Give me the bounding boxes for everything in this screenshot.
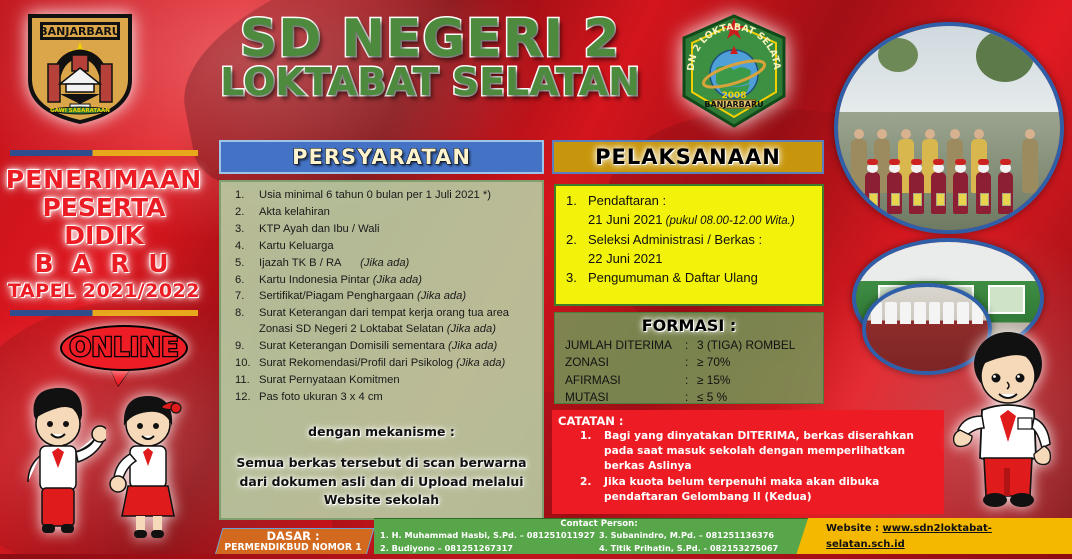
formasi-key: ZONASI (565, 354, 685, 371)
contact-heading: Contact Person: (380, 520, 818, 529)
pelaksanaan-header: PELAKSANAAN (552, 140, 824, 174)
persyaratan-item: Sertifikat/Piagam Penghargaan (Jika ada) (225, 289, 538, 305)
cartoon-boy-left (14, 372, 106, 548)
pelaksanaan-item-label: Pendaftaran : (588, 193, 666, 208)
ppdb-line-2: PESERTA DIDIK (4, 194, 204, 250)
svg-text:GAWI SABARATAAN: GAWI SABARATAAN (50, 108, 110, 114)
pelaksanaan-item: Pengumuman & Daftar Ulang (560, 269, 816, 288)
website-line: Website : www.sdn2loktabat-selatan.sch.i… (826, 521, 1064, 552)
persyaratan-item-note: (Jika ada) (370, 274, 422, 286)
persyaratan-item-text: Surat Keterangan Domisili sementara (259, 340, 445, 352)
photo-students-group (834, 22, 1064, 234)
persyaratan-item-text: Usia minimal 6 tahun 0 bulan per 1 Juli … (259, 189, 491, 201)
banjarbaru-city-logo: BANJARBARU GAWI SABARATAAN (20, 8, 140, 128)
ppdb-banner: PENERIMAAN PESERTA DIDIK B A R U TAPEL 2… (4, 150, 204, 316)
formasi-value: ≤ 5 % (697, 389, 813, 406)
pelaksanaan-panel: Pendaftaran :21 Juni 2021 (pukul 08.00-1… (554, 184, 824, 306)
persyaratan-item-text: Sertifikat/Piagam Penghargaan (259, 290, 414, 302)
ppdb-line-1: PENERIMAAN (4, 166, 204, 194)
pelaksanaan-item-detail: 22 Juni 2021 (588, 250, 816, 269)
mekanisme-block: dengan mekanisme : Semua berkas tersebut… (221, 423, 542, 510)
contact-entry: 3. Subanindro, M.Pd. – 081251136376 (599, 529, 818, 542)
online-badge-label: ONLINE (69, 333, 179, 363)
mekanisme-body: Semua berkas tersebut di scan berwarna d… (236, 455, 526, 508)
persyaratan-item-text: Kartu Indonesia Pintar (259, 274, 370, 286)
contact-list-left: 1. H. Muhammad Hasbi, S.Pd. – 0812510119… (380, 529, 599, 554)
catatan-list: Bagi yang dinyatakan DITERIMA, berkas di… (558, 429, 938, 505)
contact-list-right: 3. Subanindro, M.Pd. – 0812511363764. Ti… (599, 529, 818, 554)
persyaratan-item: KTP Ayah dan Ibu / Wali (225, 222, 538, 238)
persyaratan-item: Surat Pernyataan Komitmen (225, 373, 538, 389)
formasi-key: AFIRMASI (565, 372, 685, 389)
school-logo: SDN 2 LOKTABAT SELATAN 2008 BANJARBARU (672, 12, 796, 130)
formasi-row: MUTASI:≤ 5 % (565, 389, 813, 406)
persyaratan-item: Ijazah TK B / RA (Jika ada) (225, 256, 538, 272)
poster-root: BANJARBARU GAWI SABARATAAN SD NEGERI 2 L… (0, 0, 1072, 559)
persyaratan-item-note: (Jika ada) (444, 323, 496, 335)
formasi-key: JUMLAH DITERIMA (565, 337, 685, 354)
formasi-row: AFIRMASI:≥ 15% (565, 372, 813, 389)
catatan-item: Jika kuota belum terpenuhi maka akan dib… (558, 475, 938, 505)
formasi-key: MUTASI (565, 389, 685, 406)
catatan-item: Bagi yang dinyatakan DITERIMA, berkas di… (558, 429, 938, 474)
contact-entry: 4. Titik Prihatin, S.Pd. - 082153275067 (599, 542, 818, 555)
persyaratan-item-note: (Jika ada) (445, 340, 497, 352)
ppdb-line-4: TAPEL 2021/2022 (4, 281, 204, 302)
persyaratan-item: Kartu Keluarga (225, 239, 538, 255)
website-label: Website : (826, 523, 883, 534)
pelaksanaan-item-label: Pengumuman & Daftar Ulang (588, 270, 758, 285)
persyaratan-item: Pas foto ukuran 3 x 4 cm (225, 390, 538, 406)
formasi-title: FORMASI : (565, 316, 813, 335)
persyaratan-item: Kartu Indonesia Pintar (Jika ada) (225, 273, 538, 289)
contact-entry: 2. Budiyono – 081251267317 (380, 542, 599, 555)
pelaksanaan-item-detail: 21 Juni 2021 (pukul 08.00-12.00 Wita.) (588, 211, 816, 230)
pelaksanaan-item: Pendaftaran :21 Juni 2021 (pukul 08.00-1… (560, 192, 816, 230)
contact-entry: 1. H. Muhammad Hasbi, S.Pd. – 0812510119… (380, 529, 599, 542)
persyaratan-list: Usia minimal 6 tahun 0 bulan per 1 Juli … (225, 188, 538, 406)
divider-bar-bottom (10, 310, 198, 316)
formasi-colon: : (685, 337, 697, 354)
formasi-row: ZONASI:≥ 70% (565, 354, 813, 371)
svg-text:BANJARBARU: BANJARBARU (704, 100, 763, 109)
persyaratan-item-note: (Jika ada) (453, 357, 505, 369)
persyaratan-header-label: PERSYARATAN (292, 145, 471, 169)
formasi-row: JUMLAH DITERIMA:3 (TIGA) ROMBEL (565, 337, 813, 354)
online-badge: ONLINE (60, 325, 188, 371)
pelaksanaan-header-label: PELAKSANAAN (595, 145, 781, 169)
formasi-colon: : (685, 372, 697, 389)
mekanisme-heading: dengan mekanisme : (221, 423, 542, 442)
persyaratan-item: Surat Rekomendasi/Profil dari Psikolog (… (225, 356, 538, 372)
poster-title-block: SD NEGERI 2 LOKTABAT SELATAN (200, 14, 660, 101)
persyaratan-item-text: Ijazah TK B / RA (259, 257, 342, 269)
persyaratan-item: Usia minimal 6 tahun 0 bulan per 1 Juli … (225, 188, 538, 204)
persyaratan-panel: Usia minimal 6 tahun 0 bulan per 1 Juli … (219, 180, 544, 520)
page-subtitle: LOKTABAT SELATAN (200, 63, 660, 101)
persyaratan-item-text: KTP Ayah dan Ibu / Wali (259, 223, 379, 235)
persyaratan-item-text: Akta kelahiran (259, 206, 330, 218)
formasi-colon: : (685, 354, 697, 371)
contact-person-box: Contact Person: 1. H. Muhammad Hasbi, S.… (374, 518, 824, 556)
persyaratan-header: PERSYARATAN (219, 140, 544, 174)
pelaksanaan-item-note: (pukul 08.00-12.00 Wita.) (662, 215, 794, 227)
pelaksanaan-item-label: Seleksi Administrasi / Berkas : (588, 232, 762, 247)
persyaratan-item-note: (Jika ada) (342, 257, 410, 269)
formasi-rows: JUMLAH DITERIMA:3 (TIGA) ROMBELZONASI:≥ … (565, 337, 813, 406)
persyaratan-item-note: (Jika ada) (414, 290, 466, 302)
footer-strip (0, 554, 1072, 559)
cartoon-girl-left (104, 372, 196, 548)
formasi-panel: FORMASI : JUMLAH DITERIMA:3 (TIGA) ROMBE… (554, 312, 824, 404)
persyaratan-item: Surat Keterangan Domisili sementara (Jik… (225, 339, 538, 355)
catatan-panel: CATATAN : Bagi yang dinyatakan DITERIMA,… (552, 410, 944, 514)
website-email-box: Website : www.sdn2loktabat-selatan.sch.i… (816, 518, 1072, 556)
persyaratan-item: Surat Keterangan dari tempat kerja orang… (225, 306, 538, 338)
ppdb-line-3: B A R U (4, 250, 204, 278)
pelaksanaan-item: Seleksi Administrasi / Berkas :22 Juni 2… (560, 231, 816, 269)
persyaratan-item-text: Surat Rekomendasi/Profil dari Psikolog (259, 357, 453, 369)
pelaksanaan-list: Pendaftaran :21 Juni 2021 (pukul 08.00-1… (560, 192, 816, 288)
svg-text:BANJARBARU: BANJARBARU (39, 25, 120, 38)
catatan-title: CATATAN : (558, 414, 938, 428)
dasar-title: DASAR : (218, 530, 368, 543)
page-title: SD NEGERI 2 (200, 14, 660, 65)
formasi-value: 3 (TIGA) ROMBEL (697, 337, 813, 354)
formasi-value: ≥ 15% (697, 372, 813, 389)
persyaratan-item-text: Pas foto ukuran 3 x 4 cm (259, 391, 383, 403)
formasi-colon: : (685, 389, 697, 406)
persyaratan-item-text: Surat Pernyataan Komitmen (259, 374, 400, 386)
cartoon-boy-right (952, 318, 1064, 518)
formasi-value: ≥ 70% (697, 354, 813, 371)
persyaratan-item: Akta kelahiran (225, 205, 538, 221)
persyaratan-item-text: Kartu Keluarga (259, 240, 334, 252)
